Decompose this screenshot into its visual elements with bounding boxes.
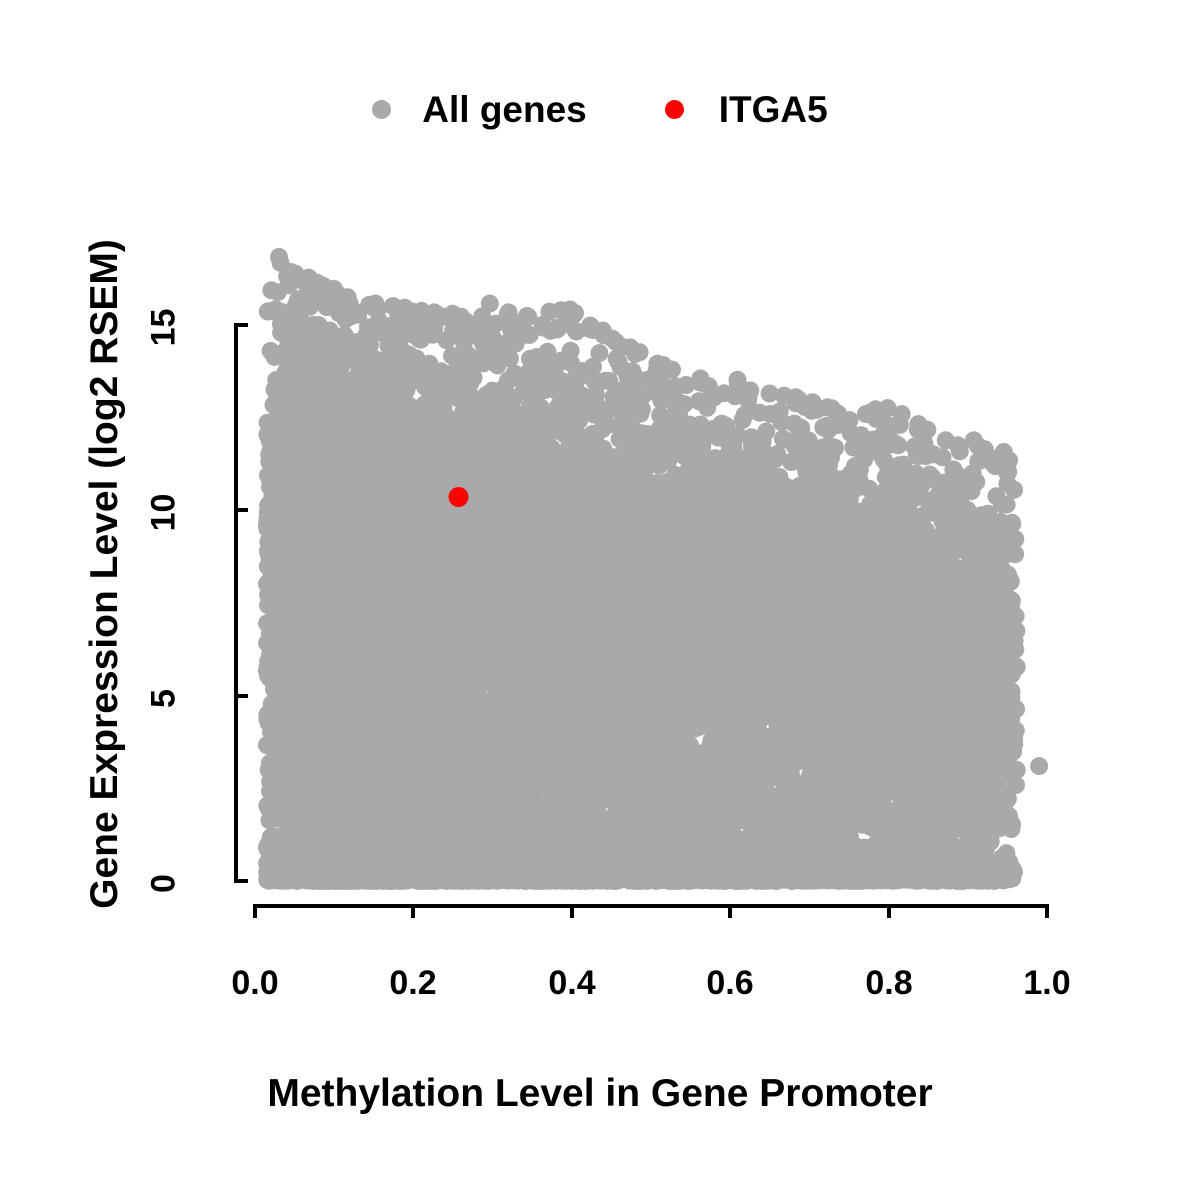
all-genes-point-cloud	[258, 248, 1026, 890]
legend-marker-itga5	[665, 100, 684, 119]
y-tick-label-0: 0	[145, 844, 184, 924]
scatter-plot-figure: All genes ITGA5 0.0 0.2 0.4 0.6 0.8 1.0 …	[0, 0, 1200, 1200]
legend-marker-all-genes	[372, 100, 391, 119]
itga5-highlight-point	[449, 487, 469, 507]
outlier-points	[1030, 757, 1048, 775]
x-tick-label-3: 0.6	[670, 964, 790, 1003]
y-tick-label-2: 10	[145, 473, 184, 553]
x-tick-label-4: 0.8	[829, 964, 949, 1003]
y-axis-title: Gene Expression Level (log2 RSEM)	[83, 154, 127, 994]
x-axis-title: Methylation Level in Gene Promoter	[0, 1072, 1200, 1116]
x-tick-label-2: 0.4	[512, 964, 632, 1003]
y-tick-label-1: 5	[145, 659, 184, 739]
y-tick-label-3: 15	[145, 288, 184, 368]
x-tick-label-0: 0.0	[195, 964, 315, 1003]
x-tick-label-5: 1.0	[987, 964, 1107, 1003]
legend: All genes ITGA5	[0, 78, 1200, 140]
legend-label-itga5: ITGA5	[719, 91, 828, 128]
plot-canvas	[0, 0, 1200, 1200]
legend-label-all-genes: All genes	[422, 91, 587, 128]
x-tick-label-1: 0.2	[353, 964, 473, 1003]
